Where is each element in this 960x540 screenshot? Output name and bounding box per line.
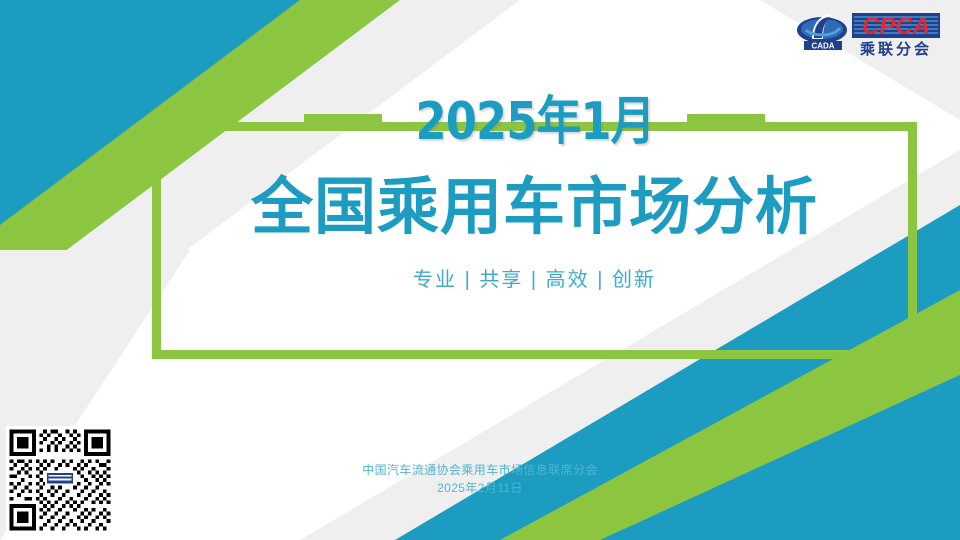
date-title-row: 2025年1月 [152, 96, 917, 148]
cpca-logo-graphic: CADA CPCA 乘联分会 [792, 8, 942, 58]
dash-right-decoration [687, 114, 765, 131]
dash-left-decoration [304, 114, 382, 131]
cpca-logo: CADA CPCA 乘联分会 [792, 8, 942, 58]
slide-subtitle: 专业 | 共享 | 高效 | 创新 [413, 263, 656, 292]
cada-emblem-text: CADA [811, 42, 834, 51]
date-title: 2025年1月 [415, 96, 654, 148]
page-title: 全国乘用车市场分析 [251, 174, 818, 239]
slide-canvas: 2025年1月 全国乘用车市场分析 专业 | 共享 | 高效 | 创新 CADA [0, 0, 960, 540]
footer: 中国汽车流通协会乘用车市场信息联席分会 2025年2月11日 [0, 461, 960, 498]
cpca-wordmark: CPCA 乘联分会 [852, 13, 940, 58]
cpca-brand-text: CPCA [862, 13, 930, 40]
cada-emblem-icon: CADA [797, 14, 847, 51]
cpca-brand-cn-text: 乘联分会 [859, 40, 932, 58]
footer-organization: 中国汽车流通协会乘用车市场信息联席分会 [0, 461, 960, 480]
footer-date: 2025年2月11日 [0, 479, 960, 498]
title-block: 2025年1月 全国乘用车市场分析 专业 | 共享 | 高效 | 创新 [152, 122, 917, 359]
